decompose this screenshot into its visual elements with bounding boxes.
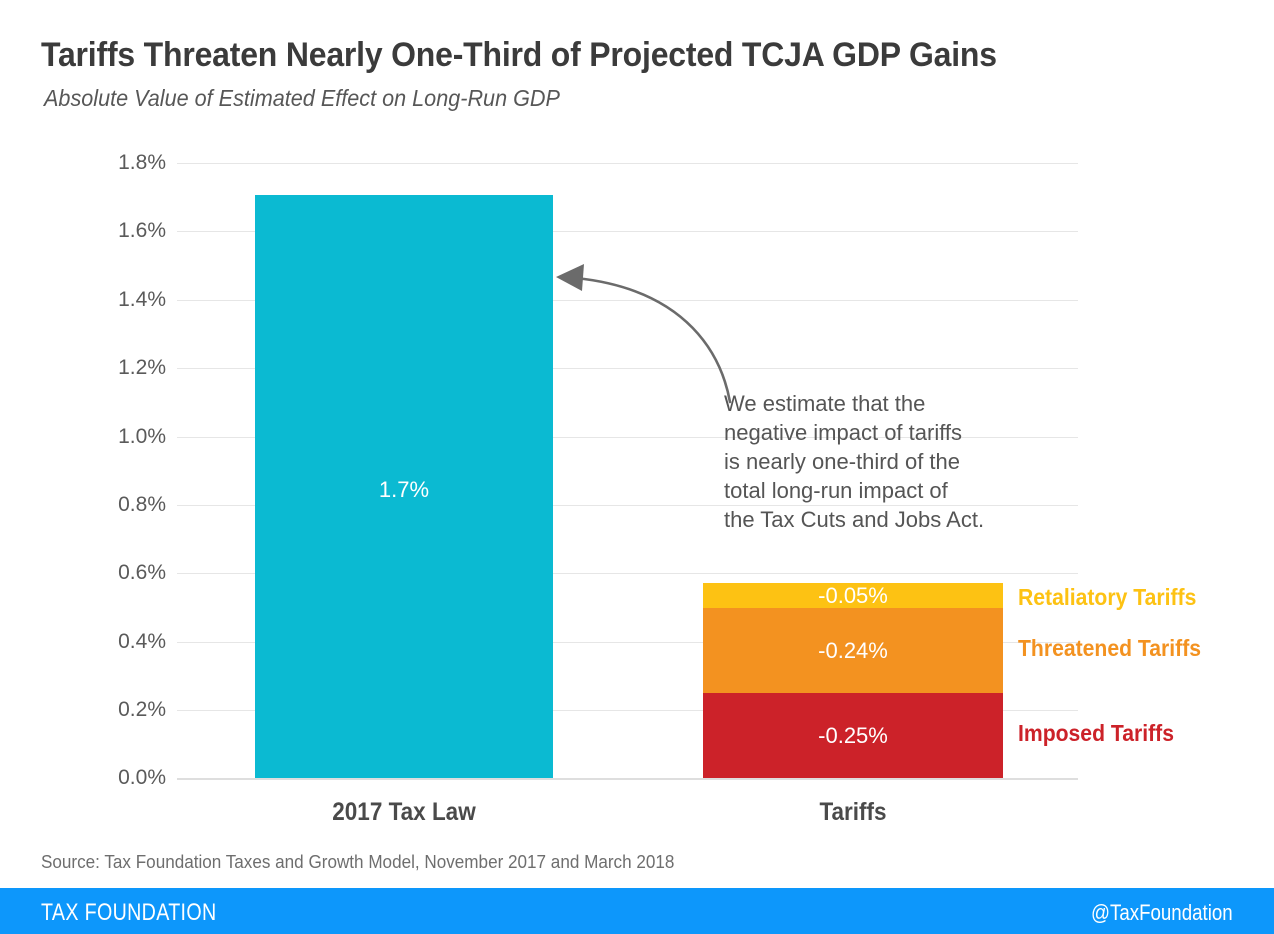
legend-item-threatened-tariffs[interactable]: Threatened Tariffs <box>1018 635 1201 662</box>
annotation-line-3: is nearly one-third of the <box>724 447 1054 476</box>
y-axis-tick-1.0: 1.0% <box>80 425 166 449</box>
footer-social-handle[interactable]: @TaxFoundation <box>1091 900 1233 926</box>
y-axis-tick-1.4: 1.4% <box>80 288 166 312</box>
bar-2017-tax-law[interactable]: 1.7% <box>255 195 553 778</box>
legend-item-imposed-tariffs[interactable]: Imposed Tariffs <box>1018 720 1174 747</box>
curved-arrow-left-icon <box>540 250 800 410</box>
legend-item-retaliatory-tariffs[interactable]: Retaliatory Tariffs <box>1018 584 1196 611</box>
y-axis-tick-0.4: 0.4% <box>80 630 166 654</box>
y-axis-tick-1.2: 1.2% <box>80 356 166 380</box>
annotation-text: We estimate that the negative impact of … <box>724 389 1054 534</box>
gridline-baseline-0.0 <box>177 778 1078 780</box>
bar-value-threatened-tariffs: -0.24% <box>703 638 1003 664</box>
annotation-line-2: negative impact of tariffs <box>724 418 1054 447</box>
bar-segment-retaliatory-tariffs[interactable]: -0.05% <box>703 583 1003 608</box>
source-note: Source: Tax Foundation Taxes and Growth … <box>41 852 674 873</box>
chart-page: Tariffs Threaten Nearly One-Third of Pro… <box>0 0 1274 934</box>
y-axis-tick-0.0: 0.0% <box>80 766 166 790</box>
x-axis-label-tariffs: Tariffs <box>718 798 988 827</box>
y-axis-tick-0.8: 0.8% <box>80 493 166 517</box>
plot-area: 1.8% 1.6% 1.4% 1.2% 1.0% 0.8% 0.6% 0.4% … <box>0 0 1274 840</box>
footer-bar: TAX FOUNDATION @TaxFoundation <box>0 888 1274 934</box>
y-axis-tick-0.2: 0.2% <box>80 698 166 722</box>
annotation-line-1: We estimate that the <box>724 389 1054 418</box>
footer-brand-label: TAX FOUNDATION <box>41 899 217 927</box>
y-axis-tick-1.8: 1.8% <box>80 151 166 175</box>
bar-segment-imposed-tariffs[interactable]: -0.25% <box>703 693 1003 778</box>
bar-value-retaliatory-tariffs: -0.05% <box>703 583 1003 609</box>
y-axis-tick-1.6: 1.6% <box>80 219 166 243</box>
y-axis-tick-0.6: 0.6% <box>80 561 166 585</box>
bar-value-2017-tax-law: 1.7% <box>255 477 553 503</box>
x-axis-label-2017-tax-law: 2017 Tax Law <box>270 798 538 827</box>
annotation-line-5: the Tax Cuts and Jobs Act. <box>724 505 1054 534</box>
gridline-1.8 <box>177 163 1078 164</box>
bar-value-imposed-tariffs: -0.25% <box>703 723 1003 749</box>
annotation-line-4: total long-run impact of <box>724 476 1054 505</box>
bar-segment-threatened-tariffs[interactable]: -0.24% <box>703 608 1003 693</box>
